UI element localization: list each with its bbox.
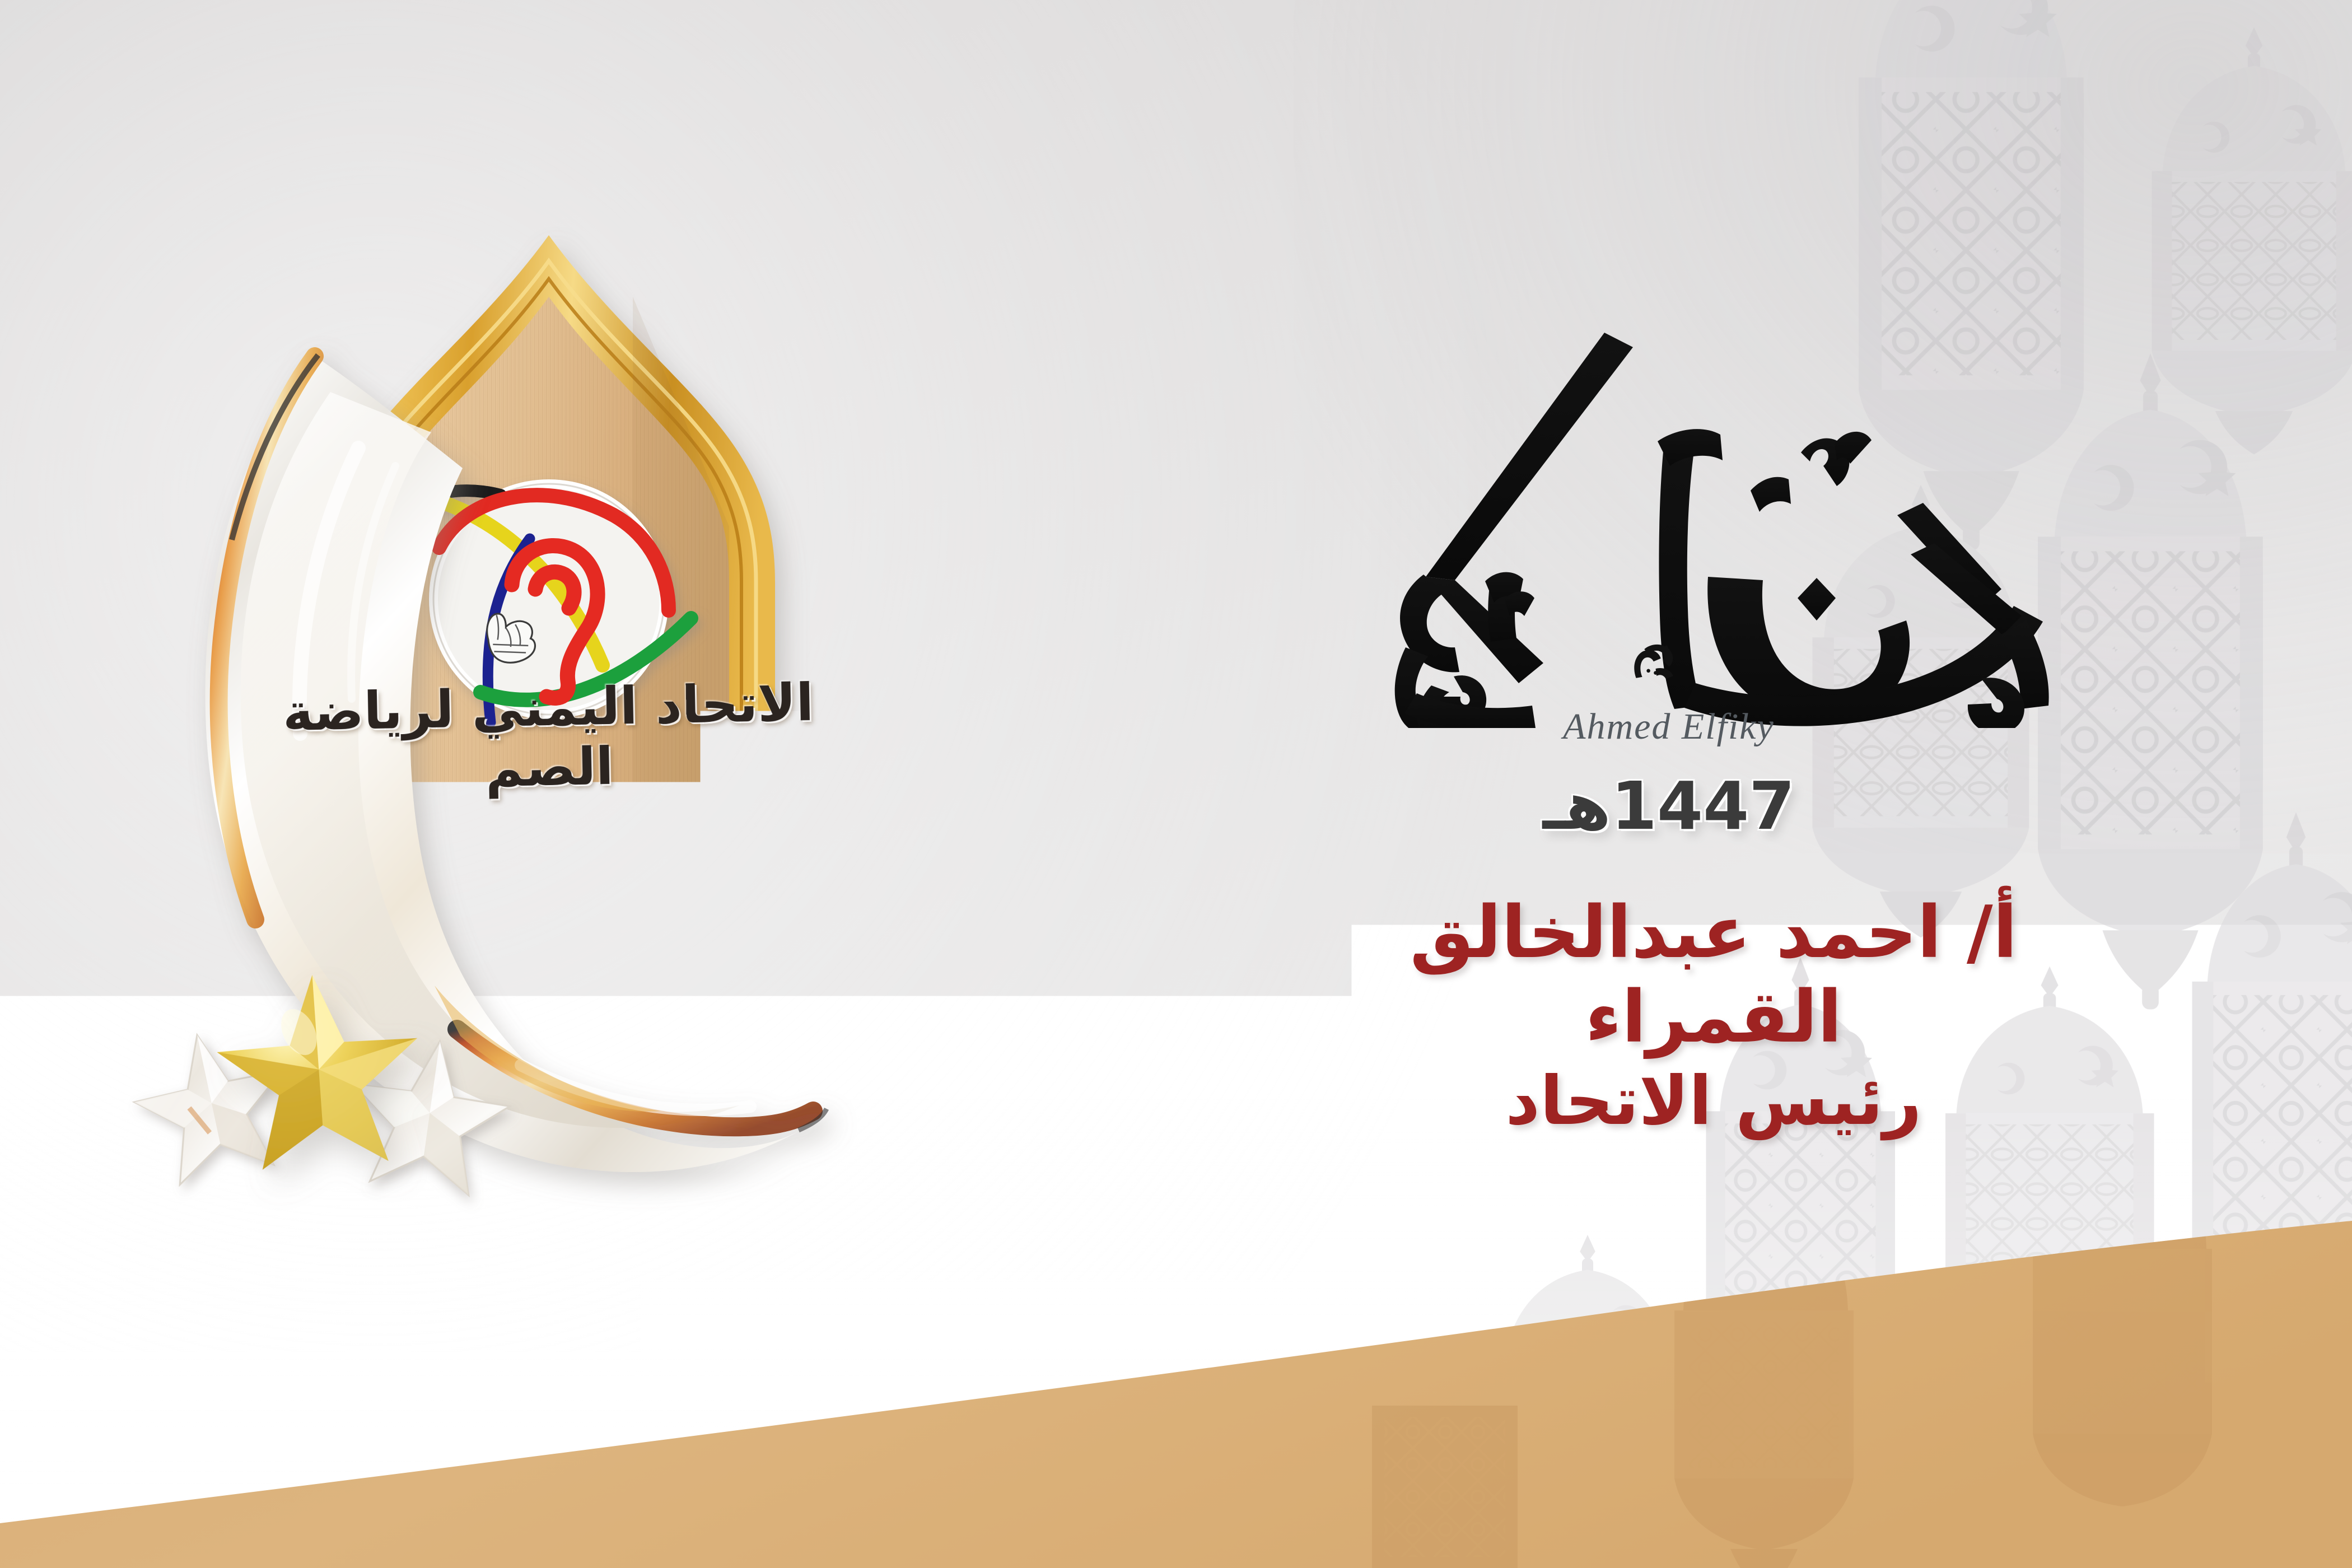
- greeting-text-column: Ahmed Elfiky 1447هـ أ/ احمد عبدالخالق ال…: [1277, 314, 2195, 1254]
- calligrapher-seal: [1634, 645, 1673, 679]
- honoree-title: رئيس الاتحاد: [1277, 1060, 2150, 1144]
- poster-canvas: الاتحاد اليمني لرياضة الصم: [0, 0, 2352, 1568]
- hijri-year: 1447هـ: [1277, 767, 2061, 844]
- ramadan-kareem-calligraphy: [1322, 314, 2106, 728]
- plaque-engraving-text: الاتحاد اليمني لرياضة الصم: [223, 671, 875, 804]
- honoree-block: أ/ احمد عبدالخالق القمراء رئيس الاتحاد: [1277, 890, 2150, 1144]
- calligraphy-strokes: [1395, 333, 2049, 728]
- bottom-gold-band: [0, 1221, 2352, 1568]
- honoree-name: أ/ احمد عبدالخالق القمراء: [1277, 890, 2150, 1060]
- ramadan-trophy-scene: الاتحاد اليمني لرياضة الصم: [95, 213, 1058, 1254]
- designer-credit: Ahmed Elfiky: [1277, 706, 2061, 748]
